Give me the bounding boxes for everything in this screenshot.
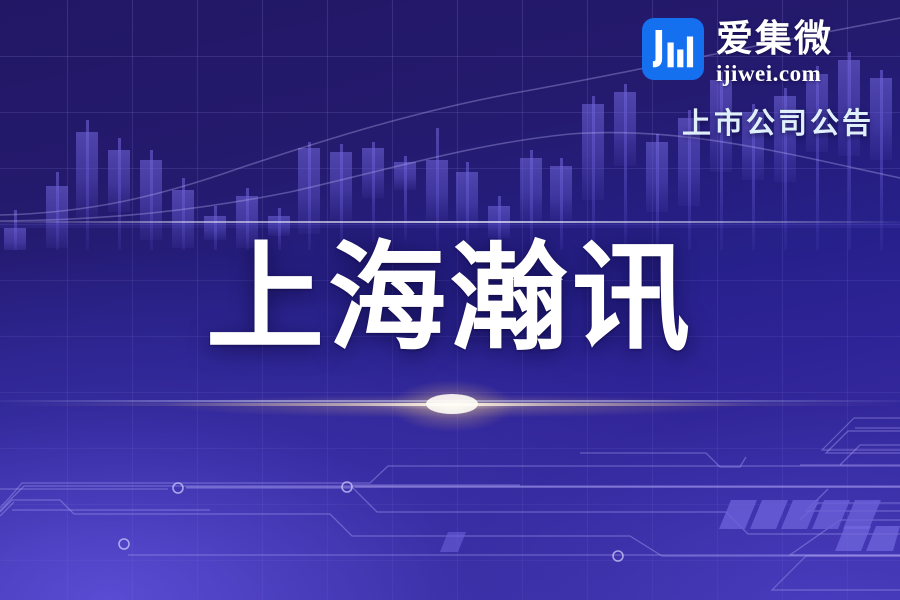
chip-bars [719,500,881,529]
company-name: 上海瀚讯 [206,236,694,362]
brand-logo-block: 爱集微 ijiwei.com 上市公司公告 [642,18,874,142]
announcement-banner: 爱集微 ijiwei.com 上市公司公告 上海瀚讯 [0,0,900,600]
page-title: 上海瀚讯 [0,236,900,362]
logo-subtitle: 上市公司公告 [642,100,874,142]
chip-bars-upper [835,526,900,551]
bar-chart-j-icon [642,18,704,80]
circuit-node [119,482,623,561]
logo-row: 爱集微 ijiwei.com [642,18,874,86]
brand-name-cn: 爱集微 [716,20,833,60]
logo-wordmark: 爱集微 ijiwei.com [716,18,833,86]
brand-name-en: ijiwei.com [716,61,833,86]
chip-bar-left [440,532,466,552]
